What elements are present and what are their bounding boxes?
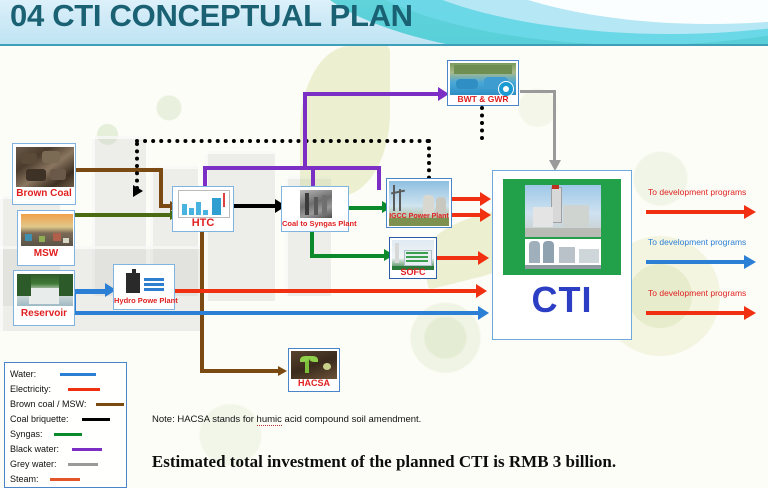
node-msw[interactable]: MSW	[17, 210, 75, 266]
legend-item-water: Water:	[10, 367, 126, 382]
header-divider	[0, 44, 768, 46]
arrowhead-htc-hacsa	[278, 366, 287, 376]
node-reservoir[interactable]: Reservoir	[13, 270, 75, 326]
line-blackwater-igcc-riser	[377, 166, 381, 190]
node-hydro-power-plant[interactable]: Hydro Powe Plant	[113, 264, 175, 310]
line-output-1	[646, 210, 748, 214]
slide-canvas: 04 CTI CONCEPTUAL PLAN	[0, 0, 768, 488]
line-syngas-igcc	[348, 206, 384, 210]
node-label-htc: HTC	[173, 217, 233, 229]
arrowhead-igcc-cti-1	[480, 192, 491, 206]
line-browncoal-htc-v	[159, 168, 163, 208]
note-underlined-word: humic	[257, 414, 282, 426]
sofc-building-photo	[392, 240, 434, 270]
arrowhead-output-1	[744, 205, 756, 219]
legend-label-water: Water:	[10, 369, 36, 379]
legend-item-electricity: Electricity:	[10, 382, 126, 397]
note-suffix: acid compound soil amendment.	[282, 414, 421, 425]
line-blackwater-manifold-low	[203, 166, 381, 170]
line-browncoal-htc-h1	[75, 168, 163, 172]
node-label-hydro-power-plant: Hydro Powe Plant	[114, 296, 174, 305]
syngas-plant-photo	[300, 190, 332, 218]
legend-label-coal-briquette: Coal briquette:	[10, 414, 69, 424]
storage-tanks-photo	[525, 239, 601, 269]
cti-green-panel	[503, 179, 621, 275]
legend-item-steam: Steam:	[10, 472, 126, 487]
legend-swatch-steam	[50, 478, 80, 481]
node-cti[interactable]: CTI	[492, 170, 632, 340]
output-label-3: To development programs	[648, 288, 746, 298]
node-hacsa[interactable]: HACSA	[288, 348, 340, 392]
note-prefix: Note: HACSA stands for	[152, 414, 257, 425]
legend-swatch-syngas	[54, 433, 82, 436]
dam-reservoir-photo	[17, 274, 73, 306]
line-htc-hacsa-h	[200, 369, 280, 373]
line-hydro-cti-electricity	[175, 289, 480, 293]
node-sofc[interactable]: SOFC	[389, 237, 437, 279]
municipal-waste-photo	[21, 214, 73, 246]
industrial-complex-photo	[525, 185, 601, 237]
legend-swatch-coal-briquette	[82, 418, 110, 421]
node-label-cti: CTI	[493, 279, 631, 321]
arrowhead-sofc-cti	[478, 251, 489, 265]
node-label-brown-coal: Brown Coal	[13, 188, 75, 199]
line-reservoir-hydro	[75, 289, 107, 294]
investment-statement: Estimated total investment of the planne…	[0, 452, 768, 472]
line-syngas-sofc-h	[310, 254, 386, 258]
slide-header: 04 CTI CONCEPTUAL PLAN	[0, 0, 768, 46]
legend-swatch-water	[60, 373, 96, 376]
line-reservoir-cti-water-h	[72, 311, 482, 315]
arrowhead-output-3	[744, 306, 756, 320]
node-htc[interactable]: HTC	[172, 186, 234, 232]
note-text: Note: HACSA stands for humic acid compou…	[152, 414, 421, 425]
line-output-3	[646, 311, 748, 315]
node-label-bwt-gwr: BWT & GWR	[448, 94, 518, 104]
legend-swatch-black-water	[72, 448, 102, 451]
legend-label-electricity: Electricity:	[10, 384, 51, 394]
node-label-hacsa: HACSA	[289, 378, 339, 388]
node-label-coal-to-syngas: Coal to Syngas Plant	[282, 219, 348, 228]
node-coal-to-syngas[interactable]: Coal to Syngas Plant	[281, 186, 349, 232]
seedling-soil-photo	[291, 351, 337, 379]
line-blackwater-top	[303, 92, 441, 96]
line-msw-htc	[75, 213, 171, 217]
output-label-1: To development programs	[648, 187, 746, 197]
line-htc-syngas	[233, 204, 277, 208]
coal-pile-photo	[16, 147, 74, 187]
htc-chart-icon	[178, 190, 230, 218]
line-bwt-dotted-down	[480, 106, 484, 140]
legend-label-steam: Steam:	[10, 474, 39, 484]
arrowhead-reservoir-cti	[478, 306, 489, 320]
line-coalbriquette-dotted-v	[135, 142, 139, 190]
line-greywater-h	[520, 90, 556, 93]
node-label-igcc: IGCC Power Plant	[387, 213, 451, 220]
line-greywater-v	[553, 90, 556, 162]
legend-item-brown-coal-msw: Brown coal / MSW:	[10, 397, 126, 412]
node-label-msw: MSW	[18, 248, 74, 259]
legend-item-coal-briquette: Coal briquette:	[10, 412, 126, 427]
arrowhead-hydro-cti	[476, 284, 487, 298]
arrowhead-igcc-cti-2	[480, 208, 491, 222]
legend-item-syngas: Syngas:	[10, 427, 126, 442]
line-blackwater-up	[303, 92, 307, 170]
node-label-reservoir: Reservoir	[14, 308, 74, 319]
line-output-2	[646, 260, 748, 264]
node-igcc[interactable]: IGCC Power Plant	[386, 178, 452, 228]
arrowhead-output-2	[744, 255, 756, 269]
legend-swatch-electricity	[68, 388, 100, 391]
legend-label-syngas: Syngas:	[10, 429, 43, 439]
node-brown-coal[interactable]: Brown Coal	[12, 143, 76, 205]
node-bwt-gwr[interactable]: BWT & GWR	[447, 60, 519, 106]
node-label-sofc: SOFC	[390, 267, 436, 277]
legend-swatch-brown-coal-msw	[96, 403, 124, 406]
hydro-plant-icon	[122, 269, 168, 295]
line-htc-hacsa-v	[200, 232, 204, 372]
page-title: 04 CTI CONCEPTUAL PLAN	[10, 0, 413, 34]
line-sofc-cti	[436, 256, 482, 260]
legend-label-brown-coal-msw: Brown coal / MSW:	[10, 399, 86, 409]
arrowhead-coalbriquette-htc	[133, 185, 143, 197]
output-label-2: To development programs	[648, 237, 746, 247]
line-coalbriquette-dotted-h	[135, 139, 430, 143]
